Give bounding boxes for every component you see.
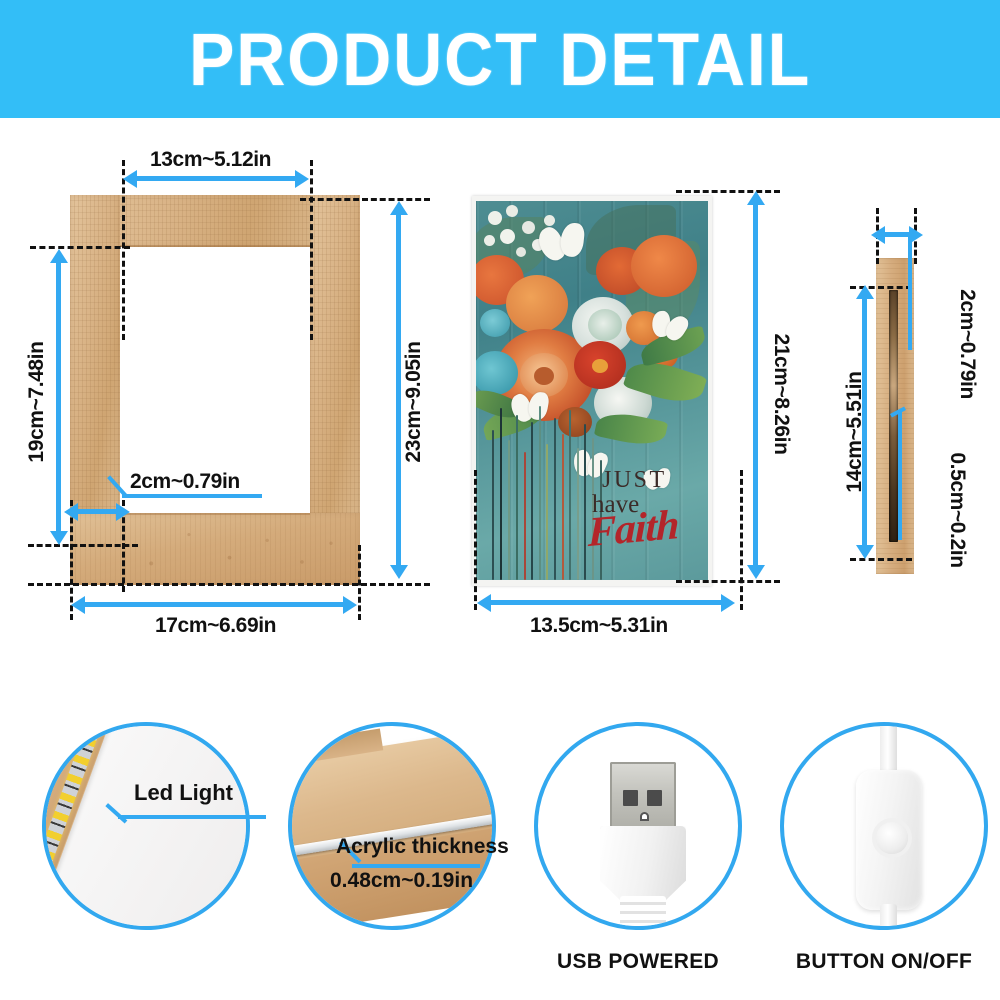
artwork-image: JUST have Faith (476, 201, 708, 580)
switch-cable-bottom (880, 904, 897, 930)
feature-circle-led-light (42, 722, 250, 930)
dimension-label-artwork-width: 13.5cm~5.31in (530, 614, 668, 638)
leader-line-led (118, 815, 266, 819)
feature-circle-acrylic (288, 722, 496, 930)
usb-strain-relief (620, 896, 666, 930)
feature-circle-switch (780, 722, 988, 930)
orange-flower (631, 235, 697, 297)
feature-caption-switch: BUTTON ON/OFF (764, 950, 1000, 974)
frame-bevel-bottom (120, 513, 310, 515)
dimension-label-stand-height: 14cm~5.51in (843, 357, 867, 507)
guide-line (30, 246, 130, 249)
usb-logo-icon (640, 812, 649, 821)
leader-line-slot (898, 412, 902, 540)
feature-sublabel-acrylic: 0.48cm~0.19in (330, 869, 473, 893)
dimension-arrow-artwork-width (490, 600, 722, 605)
artwork-quote: JUST have Faith (588, 468, 700, 554)
small-white-flower (516, 247, 526, 257)
feature-label-acrylic: Acrylic thickness (336, 835, 509, 859)
teal-flower (480, 309, 510, 337)
dimension-arrow-inner-height (56, 262, 61, 532)
header-banner: PRODUCT DETAIL (0, 0, 1000, 118)
leader-line-thickness (908, 234, 912, 350)
feature-label-led-light: Led Light (134, 780, 233, 806)
dimension-label-border-width: 2cm~0.79in (130, 470, 240, 494)
power-button-icon (876, 822, 908, 854)
artwork-panel: JUST have Faith (472, 196, 712, 586)
frame-diagram (70, 195, 360, 585)
small-white-flower (522, 221, 535, 234)
guide-line (358, 545, 361, 620)
dimension-label-outer-height: 23cm~9.05in (402, 327, 426, 477)
white-rose-center (588, 309, 622, 341)
feature-circle-usb (534, 722, 742, 930)
page-title: PRODUCT DETAIL (189, 17, 811, 102)
dimension-label-outer-width: 17cm~6.69in (155, 614, 276, 638)
feature-caption-usb: USB POWERED (518, 950, 758, 974)
orange-flower (506, 275, 568, 333)
rose-core (534, 367, 554, 385)
dimension-arrow-artwork-height (753, 204, 758, 566)
frame-bottom-rail (70, 513, 360, 585)
usb-connector-metal (610, 762, 676, 828)
small-white-flower (484, 235, 495, 246)
dimension-arrow-outer-height (396, 214, 401, 566)
guide-line (740, 470, 743, 610)
usb-pin (647, 790, 662, 806)
usb-plug-housing (600, 826, 686, 904)
guide-line (28, 583, 430, 586)
guide-line (474, 470, 477, 610)
leader-line-border-width (122, 494, 262, 498)
dimension-arrow-border-width (77, 509, 117, 514)
small-white-flower (488, 211, 502, 225)
dimension-label-inner-width: 13cm~5.12in (150, 148, 271, 172)
small-white-flower (544, 215, 555, 226)
frame-bevel-top (120, 245, 310, 247)
dimension-arrow-inner-width (136, 176, 296, 181)
dimension-arrow-stand-thickness (884, 232, 910, 237)
butterfly (537, 221, 587, 263)
dimension-label-artwork-height: 21cm~8.26in (769, 319, 793, 469)
small-white-flower (506, 205, 518, 217)
usb-pin (623, 790, 638, 806)
small-white-flower (500, 229, 515, 244)
red-flower-center (592, 359, 608, 373)
quote-line-1: JUST (588, 468, 700, 492)
dimension-label-inner-height: 19cm~7.48in (25, 327, 49, 477)
guide-line (310, 160, 313, 340)
guide-line (300, 198, 430, 201)
leader-line-acrylic (352, 864, 480, 868)
guide-line (676, 580, 780, 583)
dimension-arrow-outer-width (84, 602, 344, 607)
quote-line-3: Faith (588, 504, 700, 554)
dimension-label-stand-thickness: 2cm~0.79in (955, 269, 979, 419)
dimension-label-slot-width: 0.5cm~0.2in (945, 435, 969, 585)
